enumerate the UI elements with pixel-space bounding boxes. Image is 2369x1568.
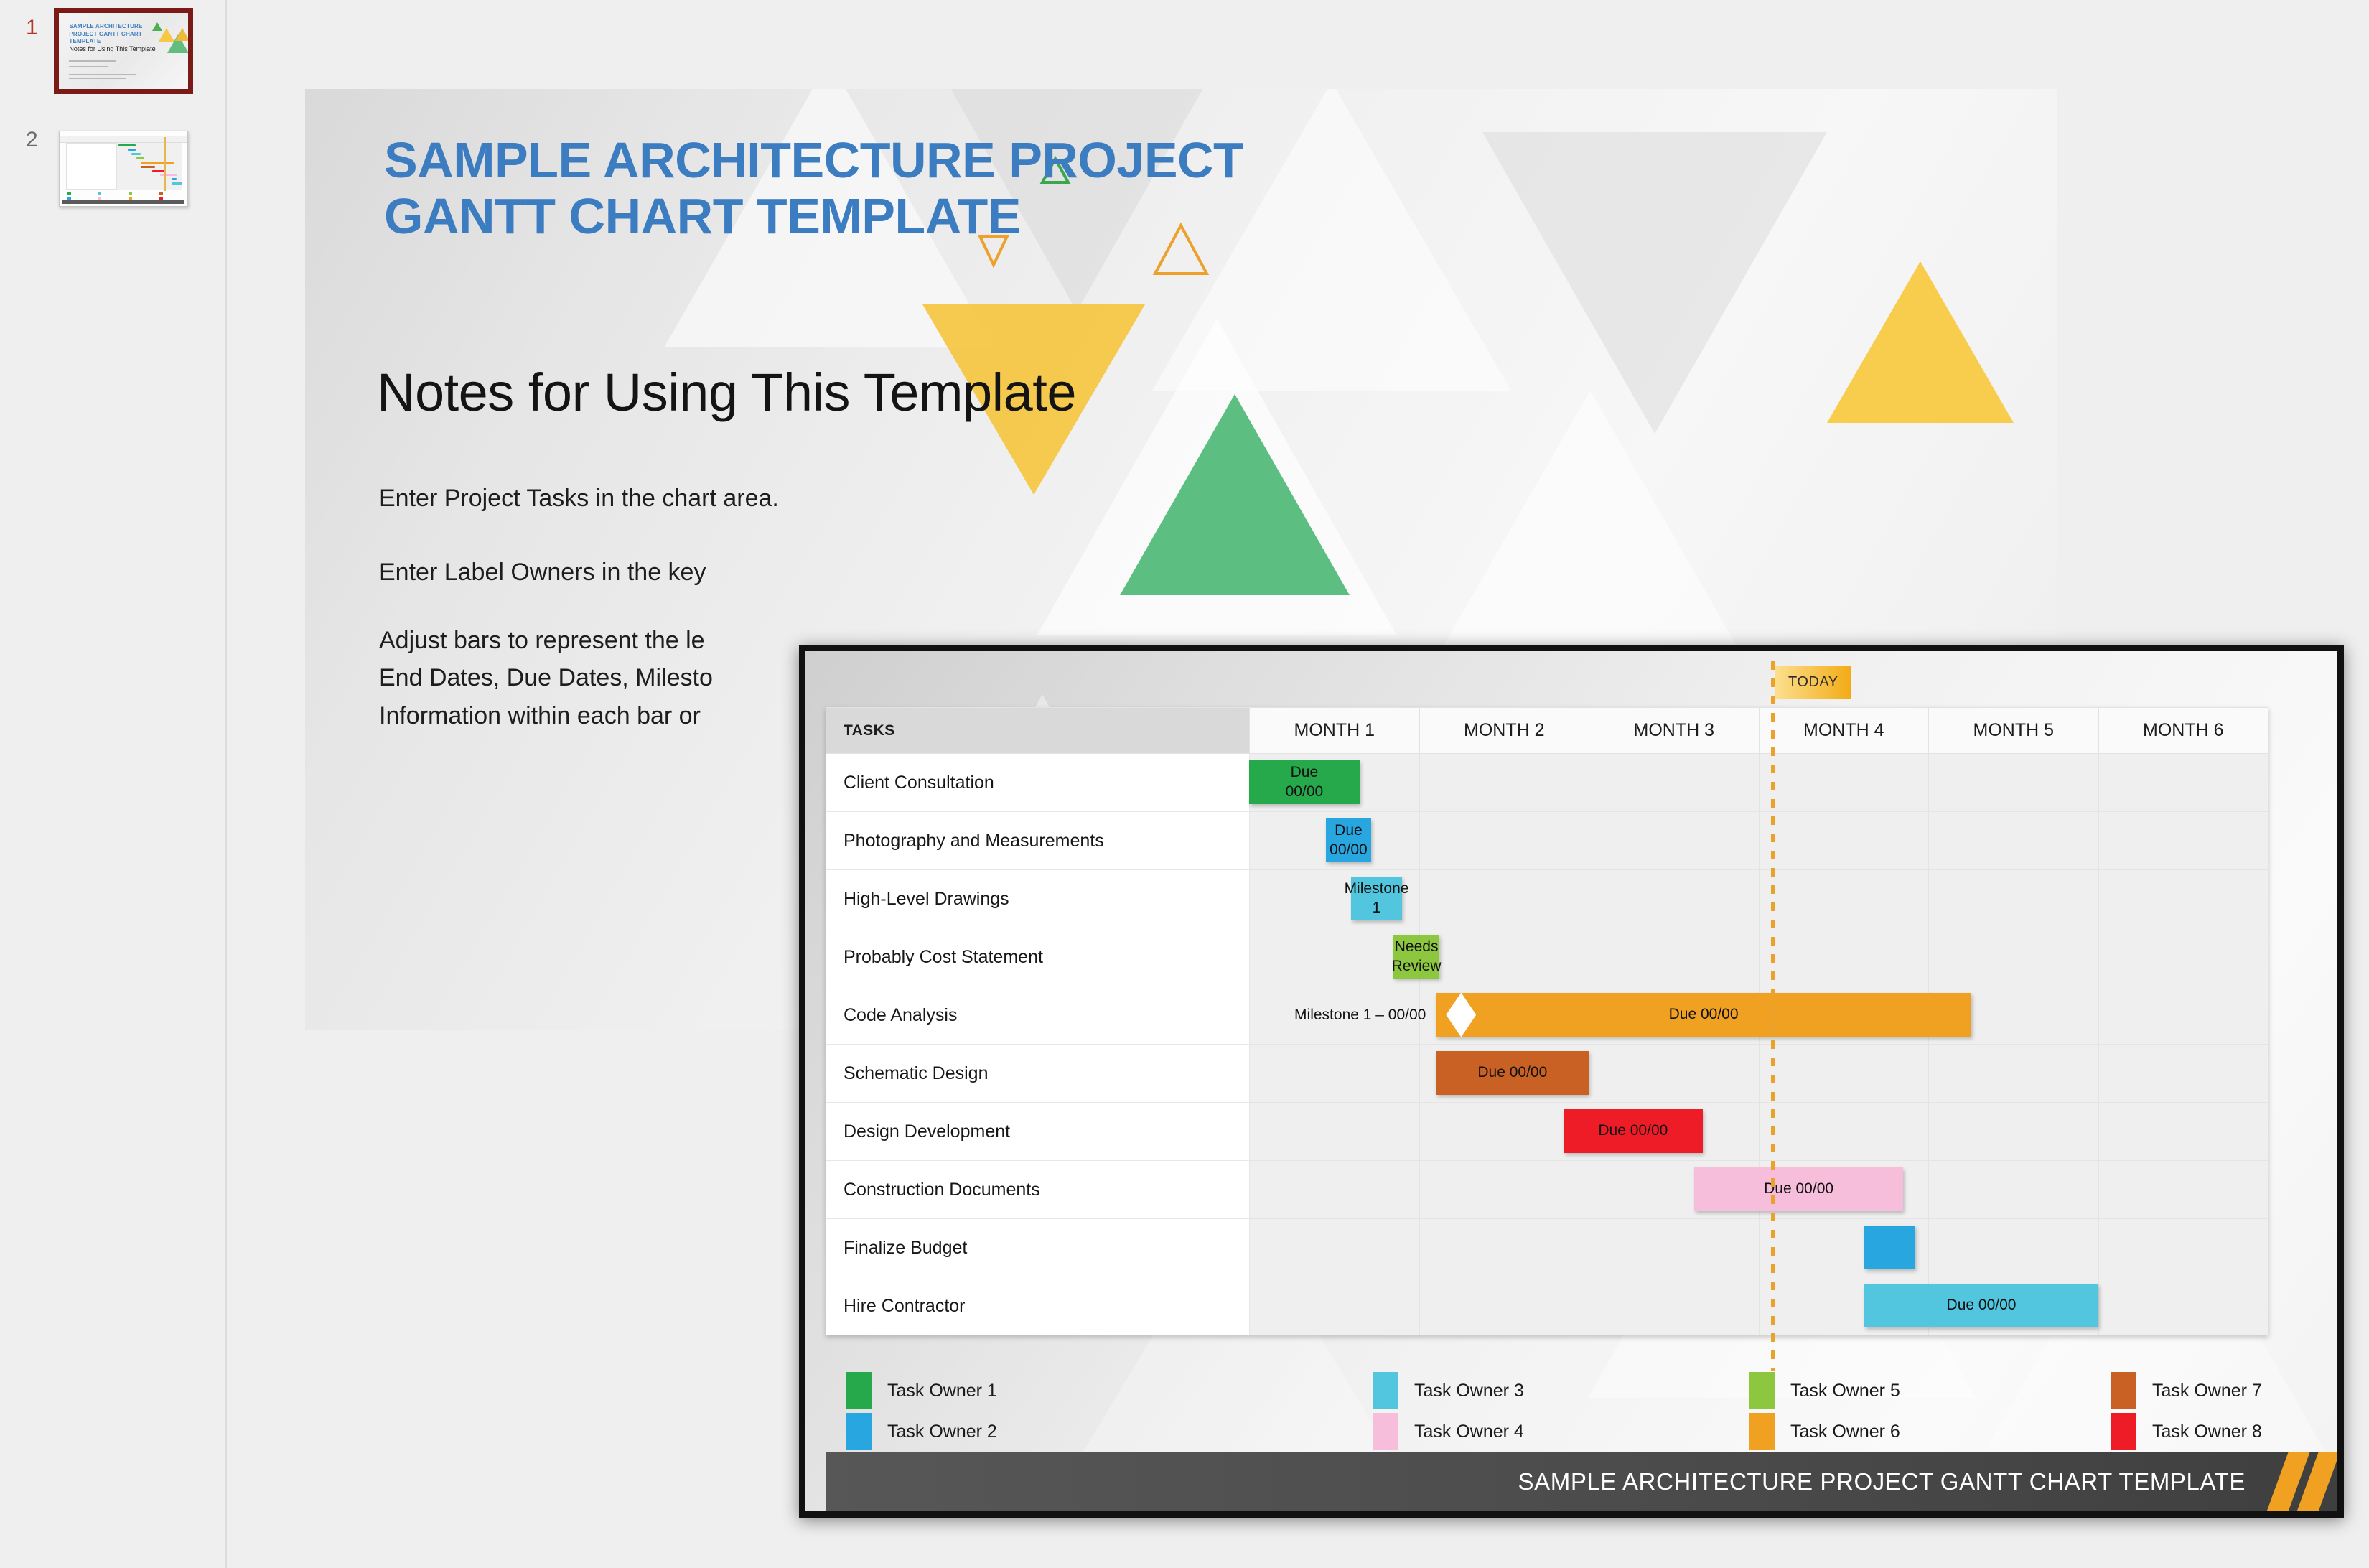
- slide-body-para-2: Enter Label Owners in the key: [379, 547, 1456, 598]
- track-cell[interactable]: [1419, 870, 1589, 928]
- track-cell[interactable]: [2098, 1045, 2268, 1103]
- track-cell[interactable]: [1759, 870, 1929, 928]
- slide-thumbnail-image-2[interactable]: [59, 131, 188, 207]
- today-flag: TODAY: [1775, 666, 1851, 699]
- track-cell[interactable]: [1250, 812, 1420, 870]
- column-header-month-4: MONTH 4: [1759, 708, 1929, 754]
- slide-number-1: 1: [26, 16, 38, 40]
- thumb2-bar-6: [141, 166, 155, 168]
- table-row[interactable]: Probably Cost Statement: [826, 928, 2268, 986]
- track-cell[interactable]: [1419, 1103, 1589, 1161]
- gantt-footer-band: SAMPLE ARCHITECTURE PROJECT GANTT CHART …: [826, 1452, 2337, 1511]
- task-label: Code Analysis: [826, 986, 1250, 1045]
- track-cell[interactable]: [1250, 928, 1420, 986]
- track-cell[interactable]: [1250, 870, 1420, 928]
- track-cell[interactable]: [1759, 1045, 1929, 1103]
- track-cell[interactable]: [1759, 986, 1929, 1045]
- track-cell[interactable]: [1250, 1219, 1420, 1277]
- track-cell[interactable]: [1589, 1161, 1760, 1219]
- track-cell[interactable]: [1250, 1045, 1420, 1103]
- thumb2-bar-2: [128, 149, 136, 151]
- track-cell[interactable]: [1929, 870, 2099, 928]
- thumb1-canvas: SAMPLE ARCHITECTURE PROJECT GANTT CHART …: [59, 13, 188, 89]
- slide-body-para-3: Adjust bars to represent the le: [379, 627, 705, 654]
- thumb2-bar-5: [141, 162, 174, 164]
- table-row[interactable]: Finalize Budget: [826, 1219, 2268, 1277]
- task-label: Client Consultation: [826, 754, 1250, 812]
- track-cell[interactable]: [1759, 1277, 1929, 1335]
- slide-body-para-1: Enter Project Tasks in the chart area.: [379, 473, 1456, 524]
- gantt-legend: Task Owner 1Task Owner 2Task Owner 3Task…: [826, 1372, 2268, 1458]
- track-cell[interactable]: [1419, 928, 1589, 986]
- track-cell[interactable]: [1419, 754, 1589, 812]
- thumb2-bar-8: [160, 174, 177, 176]
- thumb2-bar-7: [152, 170, 165, 172]
- track-cell[interactable]: [1250, 986, 1420, 1045]
- gantt-table: TASKS MONTH 1 MONTH 2 MONTH 3 MONTH 4 MO…: [826, 707, 2268, 1335]
- bg-triangle-yellow-filled-2: [1827, 261, 2014, 423]
- slide-heading: Notes for Using This Template: [377, 362, 1076, 423]
- track-cell[interactable]: [1250, 754, 1420, 812]
- gantt-chart-window[interactable]: TODAY TASKS MONTH 1 MONTH 2 MONTH 3 MONT…: [799, 645, 2344, 1518]
- track-cell[interactable]: [1759, 928, 1929, 986]
- thumb2-bar-3: [131, 153, 141, 155]
- legend-color-swatch: [2111, 1372, 2136, 1409]
- track-cell[interactable]: [1589, 1103, 1760, 1161]
- thumb2-canvas: [60, 131, 187, 206]
- legend-label: Task Owner 4: [1414, 1422, 1524, 1442]
- slide-body-para-5: Information within each bar or: [379, 702, 701, 729]
- task-label: Hire Contractor: [826, 1277, 1250, 1335]
- track-cell[interactable]: [2098, 1219, 2268, 1277]
- track-cell[interactable]: [1589, 754, 1760, 812]
- legend-item: Task Owner 1: [846, 1372, 997, 1409]
- track-cell[interactable]: [1929, 928, 2099, 986]
- legend-color-swatch: [2111, 1413, 2136, 1450]
- track-cell[interactable]: [1929, 1103, 2099, 1161]
- column-header-month-2: MONTH 2: [1419, 708, 1589, 754]
- legend-label: Task Owner 8: [2152, 1422, 2262, 1442]
- track-cell[interactable]: [1589, 870, 1760, 928]
- legend-color-swatch: [846, 1372, 872, 1409]
- thumb2-footer-band: [62, 200, 185, 204]
- app-root: 1 SAMPLE ARCHITECTURE PROJECT GANTT CHAR…: [0, 0, 2369, 1568]
- legend-color-swatch: [1749, 1372, 1775, 1409]
- table-row[interactable]: Design Development: [826, 1103, 2268, 1161]
- legend-item: Task Owner 4: [1373, 1413, 1524, 1450]
- track-cell[interactable]: [1419, 986, 1589, 1045]
- track-cell[interactable]: [1759, 812, 1929, 870]
- legend-label: Task Owner 6: [1790, 1422, 1900, 1442]
- track-cell[interactable]: [1589, 928, 1760, 986]
- thumb2-legend-sw-5: [129, 192, 132, 195]
- thumb1-line-1: [69, 60, 116, 62]
- track-cell[interactable]: [1759, 1103, 1929, 1161]
- legend-item: Task Owner 5: [1749, 1372, 1900, 1409]
- thumb2-bar-4: [136, 157, 144, 159]
- thumb1-heading: Notes for Using This Template: [69, 45, 155, 52]
- thumb2-legend-sw-3: [98, 192, 101, 195]
- track-cell[interactable]: [1929, 812, 2099, 870]
- legend-label: Task Owner 1: [887, 1381, 997, 1401]
- track-cell[interactable]: [1419, 1161, 1589, 1219]
- legend-color-swatch: [1749, 1413, 1775, 1450]
- track-cell[interactable]: [2098, 928, 2268, 986]
- track-cell[interactable]: [1759, 1161, 1929, 1219]
- track-cell[interactable]: [1419, 1045, 1589, 1103]
- gantt-table-header-row: TASKS MONTH 1 MONTH 2 MONTH 3 MONTH 4 MO…: [826, 708, 2268, 754]
- task-label: Construction Documents: [826, 1161, 1250, 1219]
- track-cell[interactable]: [1589, 812, 1760, 870]
- thumb2-legend-sw-1: [67, 192, 71, 195]
- track-cell[interactable]: [2098, 1161, 2268, 1219]
- column-header-month-5: MONTH 5: [1929, 708, 2099, 754]
- task-label: Finalize Budget: [826, 1219, 1250, 1277]
- slide-thumbnail-image-1[interactable]: SAMPLE ARCHITECTURE PROJECT GANTT CHART …: [59, 13, 188, 89]
- gantt-table-body: Client Consultation Photography and Meas…: [826, 754, 2268, 1335]
- slide-title: SAMPLE ARCHITECTURE PROJECT GANTT CHART …: [384, 132, 1461, 245]
- table-row[interactable]: Client Consultation: [826, 754, 2268, 812]
- today-marker-line: [1771, 661, 1775, 1371]
- track-cell[interactable]: [1589, 1219, 1760, 1277]
- track-cell[interactable]: [2098, 754, 2268, 812]
- track-cell[interactable]: [1929, 1161, 2099, 1219]
- track-cell[interactable]: [2098, 1103, 2268, 1161]
- slide-title-line-1: SAMPLE ARCHITECTURE PROJECT: [384, 132, 1243, 188]
- table-row[interactable]: Photography and Measurements: [826, 812, 2268, 870]
- thumb2-bar-1: [118, 144, 136, 146]
- legend-color-swatch: [1373, 1413, 1398, 1450]
- thumb1-triangle-amber: [175, 28, 188, 41]
- track-cell[interactable]: [1250, 1103, 1420, 1161]
- thumb2-today-line: [164, 137, 166, 191]
- track-cell[interactable]: [1759, 1219, 1929, 1277]
- column-header-month-1: MONTH 1: [1250, 708, 1420, 754]
- slide-body-para-4: End Dates, Due Dates, Milesto: [379, 664, 713, 691]
- thumb1-line-3: [69, 74, 136, 75]
- gantt-footer-title: SAMPLE ARCHITECTURE PROJECT GANTT CHART …: [1518, 1468, 2246, 1495]
- legend-label: Task Owner 5: [1790, 1381, 1900, 1401]
- table-row[interactable]: Hire Contractor: [826, 1277, 2268, 1335]
- bg-triangle-light-4: [1482, 132, 1827, 434]
- track-cell[interactable]: [1589, 1277, 1760, 1335]
- slide-number-2: 2: [26, 128, 38, 152]
- bg-triangle-light-6: [1425, 391, 1755, 678]
- track-cell[interactable]: [1929, 1277, 2099, 1335]
- slide-thumbnail-panel: 1 SAMPLE ARCHITECTURE PROJECT GANTT CHAR…: [0, 0, 227, 1568]
- track-cell[interactable]: [1929, 754, 2099, 812]
- legend-color-swatch: [846, 1413, 872, 1450]
- legend-item: Task Owner 6: [1749, 1413, 1900, 1450]
- thumb2-task-column: [66, 143, 117, 190]
- column-header-month-6: MONTH 6: [2098, 708, 2268, 754]
- track-cell[interactable]: [1250, 1161, 1420, 1219]
- legend-item: Task Owner 2: [846, 1413, 997, 1450]
- legend-item: Task Owner 7: [2111, 1372, 2262, 1409]
- track-cell[interactable]: [2098, 986, 2268, 1045]
- table-row[interactable]: Code Analysis: [826, 986, 2268, 1045]
- task-label: Photography and Measurements: [826, 812, 1250, 870]
- track-cell[interactable]: [1250, 1277, 1420, 1335]
- thumb2-header: [60, 136, 187, 142]
- task-label: High-Level Drawings: [826, 870, 1250, 928]
- legend-label: Task Owner 3: [1414, 1381, 1524, 1401]
- thumb1-line-4: [69, 78, 126, 79]
- track-cell[interactable]: [1419, 812, 1589, 870]
- legend-color-swatch: [1373, 1372, 1398, 1409]
- track-cell[interactable]: [1759, 754, 1929, 812]
- track-cell[interactable]: [2098, 812, 2268, 870]
- thumb2-bar-10: [172, 182, 182, 185]
- track-cell[interactable]: [1929, 1219, 2099, 1277]
- thumb1-title: SAMPLE ARCHITECTURE PROJECT GANTT CHART …: [69, 23, 146, 46]
- table-row[interactable]: High-Level Drawings: [826, 870, 2268, 928]
- legend-label: Task Owner 2: [887, 1422, 997, 1442]
- table-row[interactable]: Schematic Design: [826, 1045, 2268, 1103]
- task-label: Design Development: [826, 1103, 1250, 1161]
- task-label: Schematic Design: [826, 1045, 1250, 1103]
- thumb2-legend-sw-7: [159, 192, 163, 195]
- track-cell[interactable]: [1419, 1219, 1589, 1277]
- track-cell[interactable]: [1419, 1277, 1589, 1335]
- track-cell[interactable]: [2098, 870, 2268, 928]
- column-header-month-3: MONTH 3: [1589, 708, 1760, 754]
- task-label: Probably Cost Statement: [826, 928, 1250, 986]
- legend-item: Task Owner 3: [1373, 1372, 1524, 1409]
- thumb2-bar-9: [172, 178, 176, 180]
- legend-item: Task Owner 8: [2111, 1413, 2262, 1450]
- thumb2-grid: [117, 143, 182, 190]
- table-row[interactable]: Construction Documents: [826, 1161, 2268, 1219]
- thumb1-line-2: [69, 66, 108, 67]
- slide-title-line-2: GANTT CHART TEMPLATE: [384, 188, 1021, 244]
- legend-label: Task Owner 7: [2152, 1381, 2262, 1401]
- track-cell[interactable]: [2098, 1277, 2268, 1335]
- track-cell[interactable]: [1929, 986, 2099, 1045]
- track-cell[interactable]: [1589, 986, 1760, 1045]
- column-header-tasks: TASKS: [826, 708, 1250, 754]
- track-cell[interactable]: [1929, 1045, 2099, 1103]
- track-cell[interactable]: [1589, 1045, 1760, 1103]
